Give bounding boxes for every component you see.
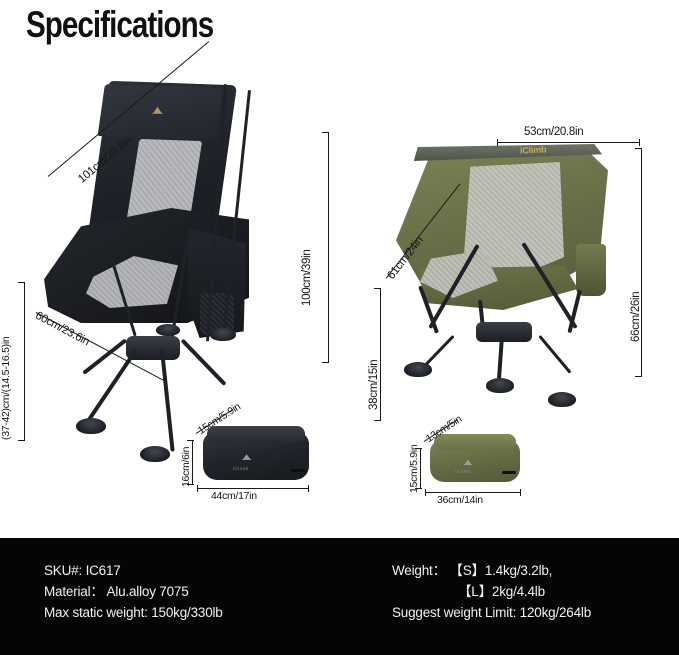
dimension-line-seat-height <box>24 282 25 440</box>
dimension-line-total-height <box>328 132 329 362</box>
foot-rear-right <box>210 328 236 341</box>
bag-dimension-label-length: 44cm/17in <box>211 490 257 502</box>
bag-dimension-label-height: 15cm/5.9in <box>408 445 420 493</box>
chair-side-pocket <box>576 244 606 296</box>
dimension-label-seat-height: 38cm/15in <box>368 360 380 410</box>
large-chair-illustration <box>38 78 338 478</box>
bag-brand-text: iClimb <box>455 469 471 474</box>
page-title: Specifications <box>26 4 213 46</box>
seat-height-tick-bottom <box>18 440 25 441</box>
dimension-label-width: 53cm/20.8in <box>524 126 583 138</box>
foot-center <box>486 378 514 393</box>
dimension-line-seat-height <box>380 288 381 420</box>
leg-center <box>497 336 504 380</box>
bag-length-tick-left <box>197 485 198 492</box>
frame-center-hub <box>476 322 532 342</box>
bag-top-face <box>207 426 305 442</box>
width-tick-right <box>639 139 640 146</box>
bag-dimension-line-height <box>420 448 421 488</box>
bag-length-tick-right <box>308 485 309 492</box>
bag-dimension-line-height <box>192 440 193 484</box>
bag-dimension-line-length <box>197 488 309 489</box>
bag-top-face <box>434 434 517 450</box>
brand-label: iClimb <box>520 144 547 155</box>
dimension-tick-top <box>322 132 329 133</box>
foot-left <box>404 362 432 377</box>
bag-brand-text: iClimb <box>233 466 249 471</box>
bag-dimension-line-length <box>425 492 521 493</box>
small-carry-bag-illustration: iClimb <box>430 440 520 482</box>
foot-right <box>548 392 576 407</box>
bag-dimension-label-length: 36cm/14in <box>437 494 483 506</box>
spec-max-static-weight: Max static weight: 150kg/330lb <box>44 602 223 623</box>
bag-zipper-pull <box>502 471 516 474</box>
bag-height-tick-top <box>187 440 194 441</box>
specification-bar: SKU#: IC617 Material： Alu.alloy 7075 Max… <box>0 538 679 655</box>
rc-seat-height-tick-top <box>374 288 381 289</box>
spec-column-left: SKU#: IC617 Material： Alu.alloy 7075 Max… <box>44 560 223 623</box>
bag-zipper-pull <box>291 469 305 472</box>
spec-material: Material： Alu.alloy 7075 <box>44 581 223 602</box>
dimension-line-width <box>497 142 640 143</box>
seat-height-tick-top <box>18 282 25 283</box>
rc-height-tick-bottom <box>635 376 642 377</box>
foot-front-right <box>140 446 170 462</box>
rc-height-tick-top <box>635 148 642 149</box>
large-carry-bag-illustration: iClimb <box>203 432 309 480</box>
spec-sku: SKU#: IC617 <box>44 560 223 581</box>
leg-rear-right <box>538 335 571 374</box>
specifications-page: Specifications 101cm/39.8in 60cm/23.6in <box>0 0 679 655</box>
dimension-label-total-height: 100cm/39in <box>301 250 313 306</box>
dimension-label-seat-height: (37-42)cm/(14.5-16.5)in <box>0 337 12 440</box>
bag-length-tick-left <box>425 489 426 496</box>
width-tick-left <box>497 139 498 146</box>
spec-weight-small: Weight： 【S】1.4kg/3.2lb, <box>392 560 591 581</box>
bag-dimension-label-height: 16cm/6in <box>180 447 192 487</box>
spec-column-right: Weight： 【S】1.4kg/3.2lb, 【L】2kg/4.4lb Sug… <box>392 560 591 623</box>
spec-weight-large: 【L】2kg/4.4lb <box>392 581 591 602</box>
foot-front-left <box>76 418 106 434</box>
dimension-label-total-height: 66cm/26in <box>630 292 642 342</box>
spec-suggest-weight-limit: Suggest weight Limit: 120kg/264lb <box>392 602 591 623</box>
dimension-tick-bottom <box>322 362 329 363</box>
leg-rear-right <box>181 339 227 386</box>
foot-rear-left <box>156 324 180 336</box>
bag-length-tick-right <box>520 489 521 496</box>
rc-seat-height-tick-bottom <box>374 420 381 421</box>
small-chair-illustration: iClimb <box>388 140 638 470</box>
leg-front-right <box>160 350 175 452</box>
